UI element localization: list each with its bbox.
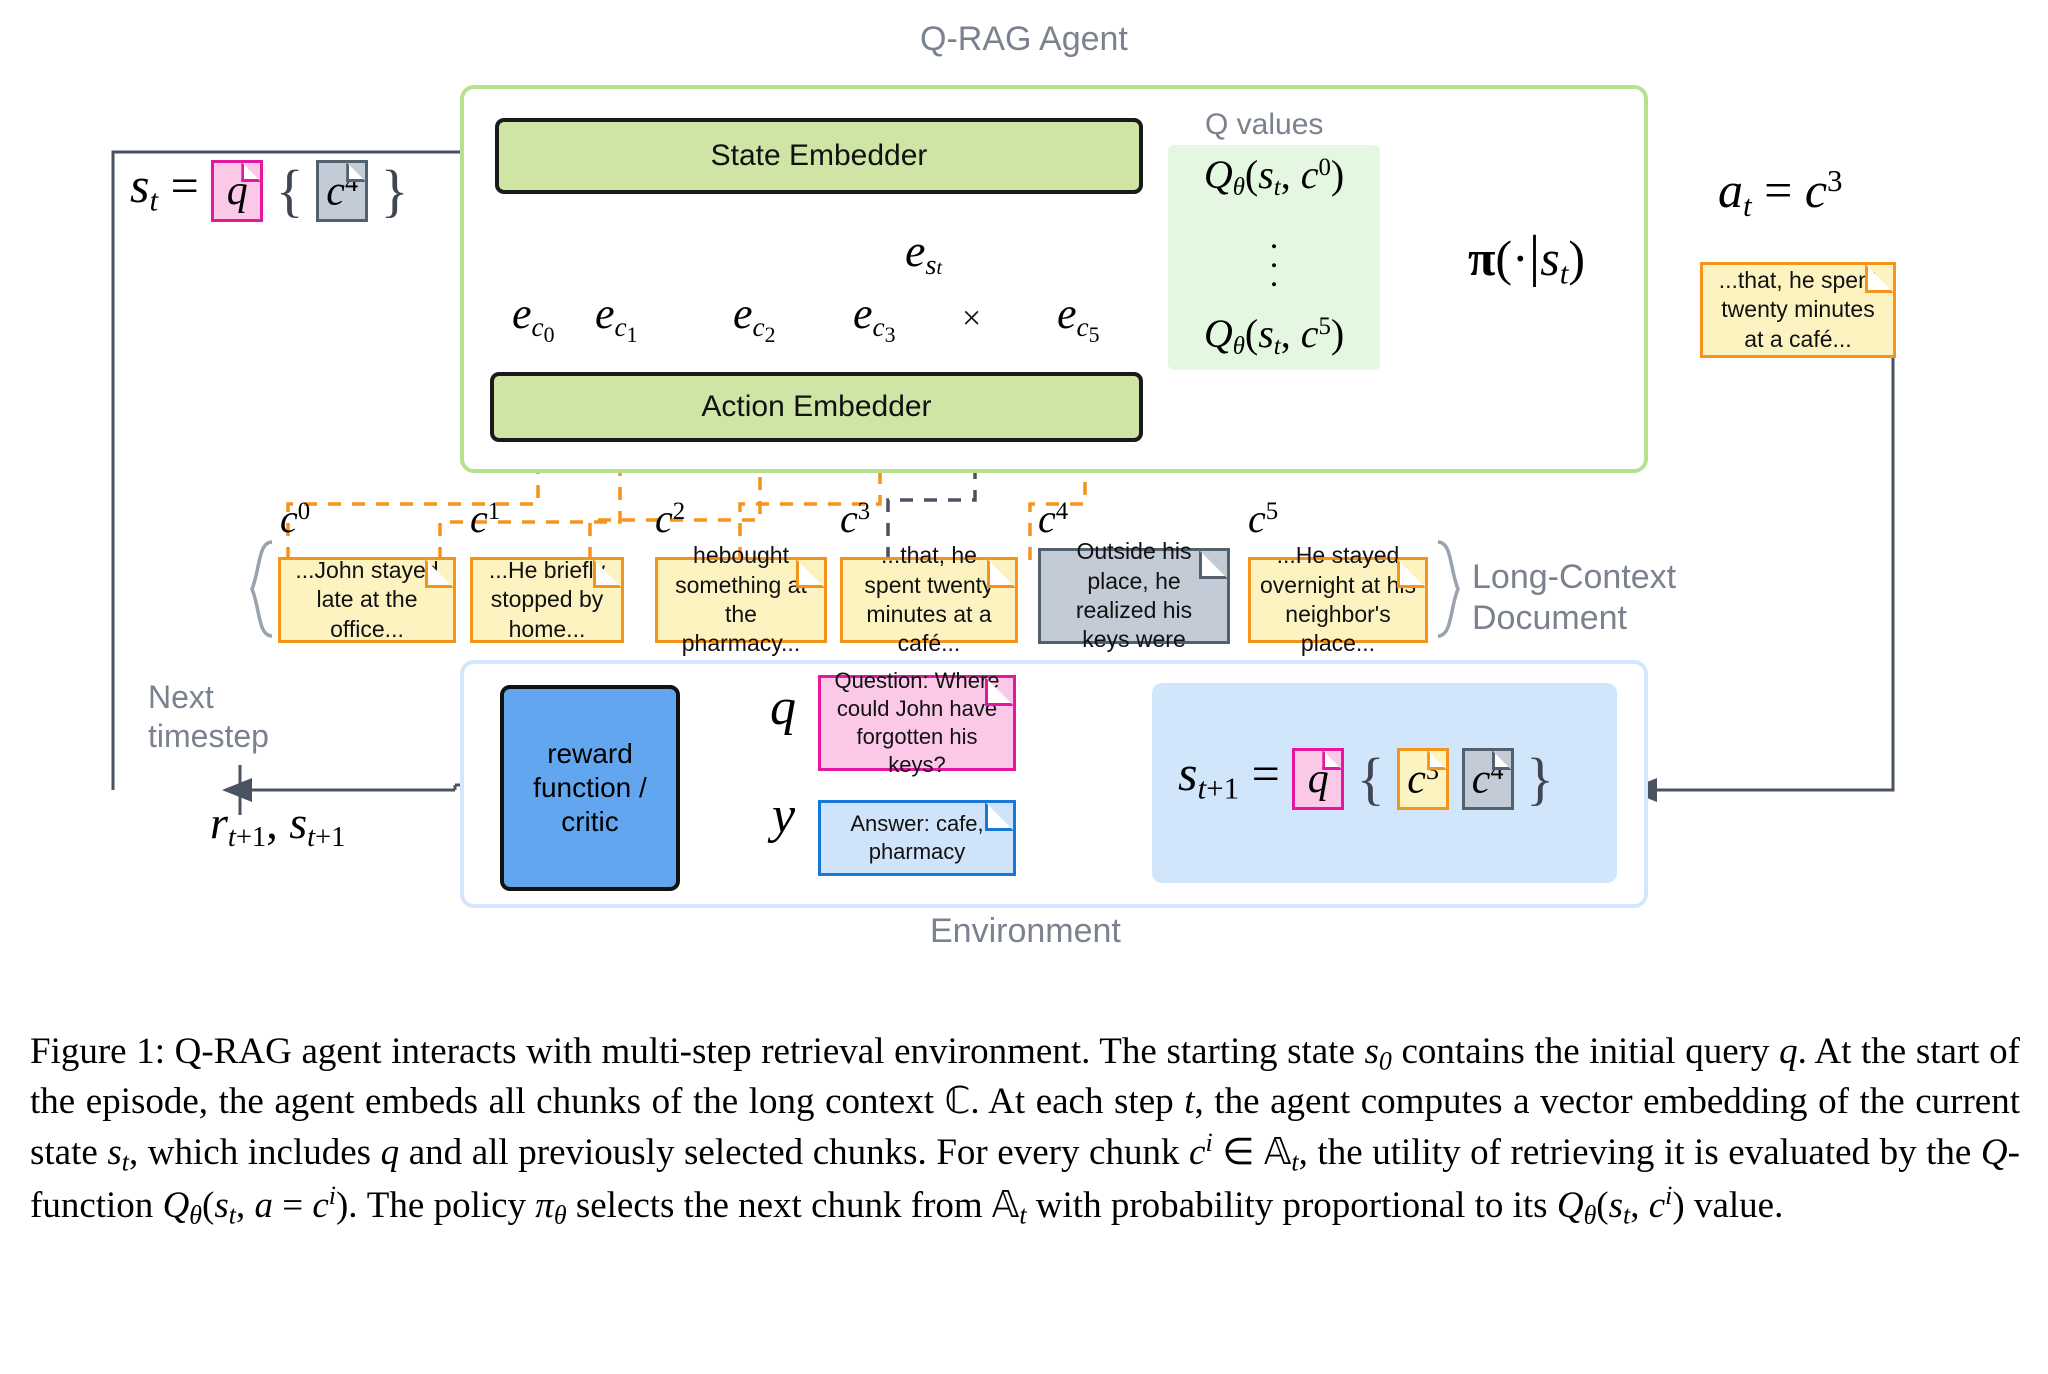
chunk-note-c2: hebought something at the pharmacy... — [655, 557, 827, 643]
caption-prefix: Figure 1: — [30, 1031, 165, 1072]
q-values-ellipsis: ... — [1270, 229, 1279, 285]
action-embedding-label-c3: ec3 — [853, 292, 896, 347]
long-context-brace-left — [252, 542, 272, 636]
question-symbol: q — [770, 682, 796, 734]
chunk-note-c1: ...He briefly stopped by home... — [470, 557, 624, 643]
reward-line-1: reward — [547, 737, 633, 771]
next-state-query-tile: q — [1292, 748, 1344, 810]
action-expression: at = c3 — [1718, 165, 1843, 221]
next-state-chunk-tile-c4: c4 — [1462, 748, 1514, 810]
next-timestep-label: Next timestep — [148, 678, 269, 756]
figure-canvas: Q-RAG Agent State Embedder Action Embedd… — [0, 0, 2048, 1374]
chunk-label-c1: c1 — [470, 495, 500, 542]
action-embedding-label-c0: ec0 — [512, 292, 555, 347]
next-state-brace-close: } — [1526, 746, 1554, 811]
wire-action-to-environment — [1630, 285, 1893, 790]
chunk-label-c0: c0 — [280, 495, 310, 542]
q-values-title: Q values — [1205, 108, 1323, 142]
chunk-note-c5: ...He stayed overnight at his neighbor's… — [1248, 557, 1428, 643]
next-state-expression: st+1 = q { c3 c4 } — [1178, 748, 1554, 810]
selected-chunk-note: ...that, he spent twenty minutes at a ca… — [1700, 262, 1896, 358]
figure-caption: Figure 1: Q-RAG agent interacts with mul… — [30, 1028, 2020, 1232]
query-tile: q — [211, 160, 263, 222]
action-embedding-excluded-marker: × — [962, 300, 981, 338]
q-value-first: Qθ(st, c0) — [1204, 155, 1344, 201]
action-embedding-label-c1: ec1 — [595, 292, 638, 347]
action-embedder-box[interactable]: Action Embedder — [490, 372, 1143, 442]
state-symbol: st — [130, 157, 158, 213]
state-equals: = — [171, 157, 212, 213]
long-context-label: Long-Context Document — [1472, 557, 1676, 640]
state-expression: st = q { c4 } — [130, 160, 408, 222]
environment-title: Environment — [930, 912, 1121, 951]
policy-expression: π(·|st) — [1468, 228, 1585, 289]
chunk-note-c3: ...that, he spent twenty minutes at a ca… — [840, 557, 1018, 643]
action-embedder-label: Action Embedder — [701, 390, 931, 424]
next-state-brace-open: { — [1357, 746, 1385, 811]
caption-body: Q-RAG agent interacts with multi-step re… — [30, 1031, 2020, 1226]
chunk-label-c5: c5 — [1248, 495, 1278, 542]
chunk-note-c0: ...John stayed late at the office... — [278, 557, 456, 643]
set-brace-open: { — [276, 158, 304, 223]
long-context-brace-right — [1438, 542, 1458, 636]
feedback-label: rt+1, st+1 — [210, 800, 345, 853]
action-embedding-label-c5: ec5 — [1057, 292, 1100, 347]
next-state-symbol: st+1 — [1178, 745, 1239, 801]
q-values-box: Qθ(st, c0) ... Qθ(st, c5) — [1168, 145, 1380, 370]
answer-note: Answer: cafe, pharmacy — [818, 800, 1016, 876]
chunk-tile-c4: c4 — [316, 160, 368, 222]
state-embedder-label: State Embedder — [711, 139, 928, 173]
reward-line-3: critic — [561, 805, 619, 839]
chunk-label-c3: c3 — [840, 495, 870, 542]
state-embedder-box[interactable]: State Embedder — [495, 118, 1143, 194]
agent-title: Q-RAG Agent — [920, 20, 1128, 59]
chunk-label-c2: c2 — [655, 495, 685, 542]
action-embedding-label-c2: ec2 — [733, 292, 776, 347]
reward-line-2: function / — [533, 771, 647, 805]
set-brace-close: } — [381, 158, 409, 223]
reward-function-box[interactable]: reward function / critic — [500, 685, 680, 891]
q-value-last: Qθ(st, c5) — [1204, 314, 1344, 360]
chunk-label-c4: c4 — [1038, 495, 1068, 542]
next-state-chunk-tile-c3: c3 — [1397, 748, 1449, 810]
state-embedding-label: est — [905, 228, 942, 281]
question-note: Question: Where could John have forgotte… — [818, 675, 1016, 771]
chunk-note-c4: Outside his place, he realized his keys … — [1038, 548, 1230, 644]
answer-symbol: y — [772, 790, 795, 842]
